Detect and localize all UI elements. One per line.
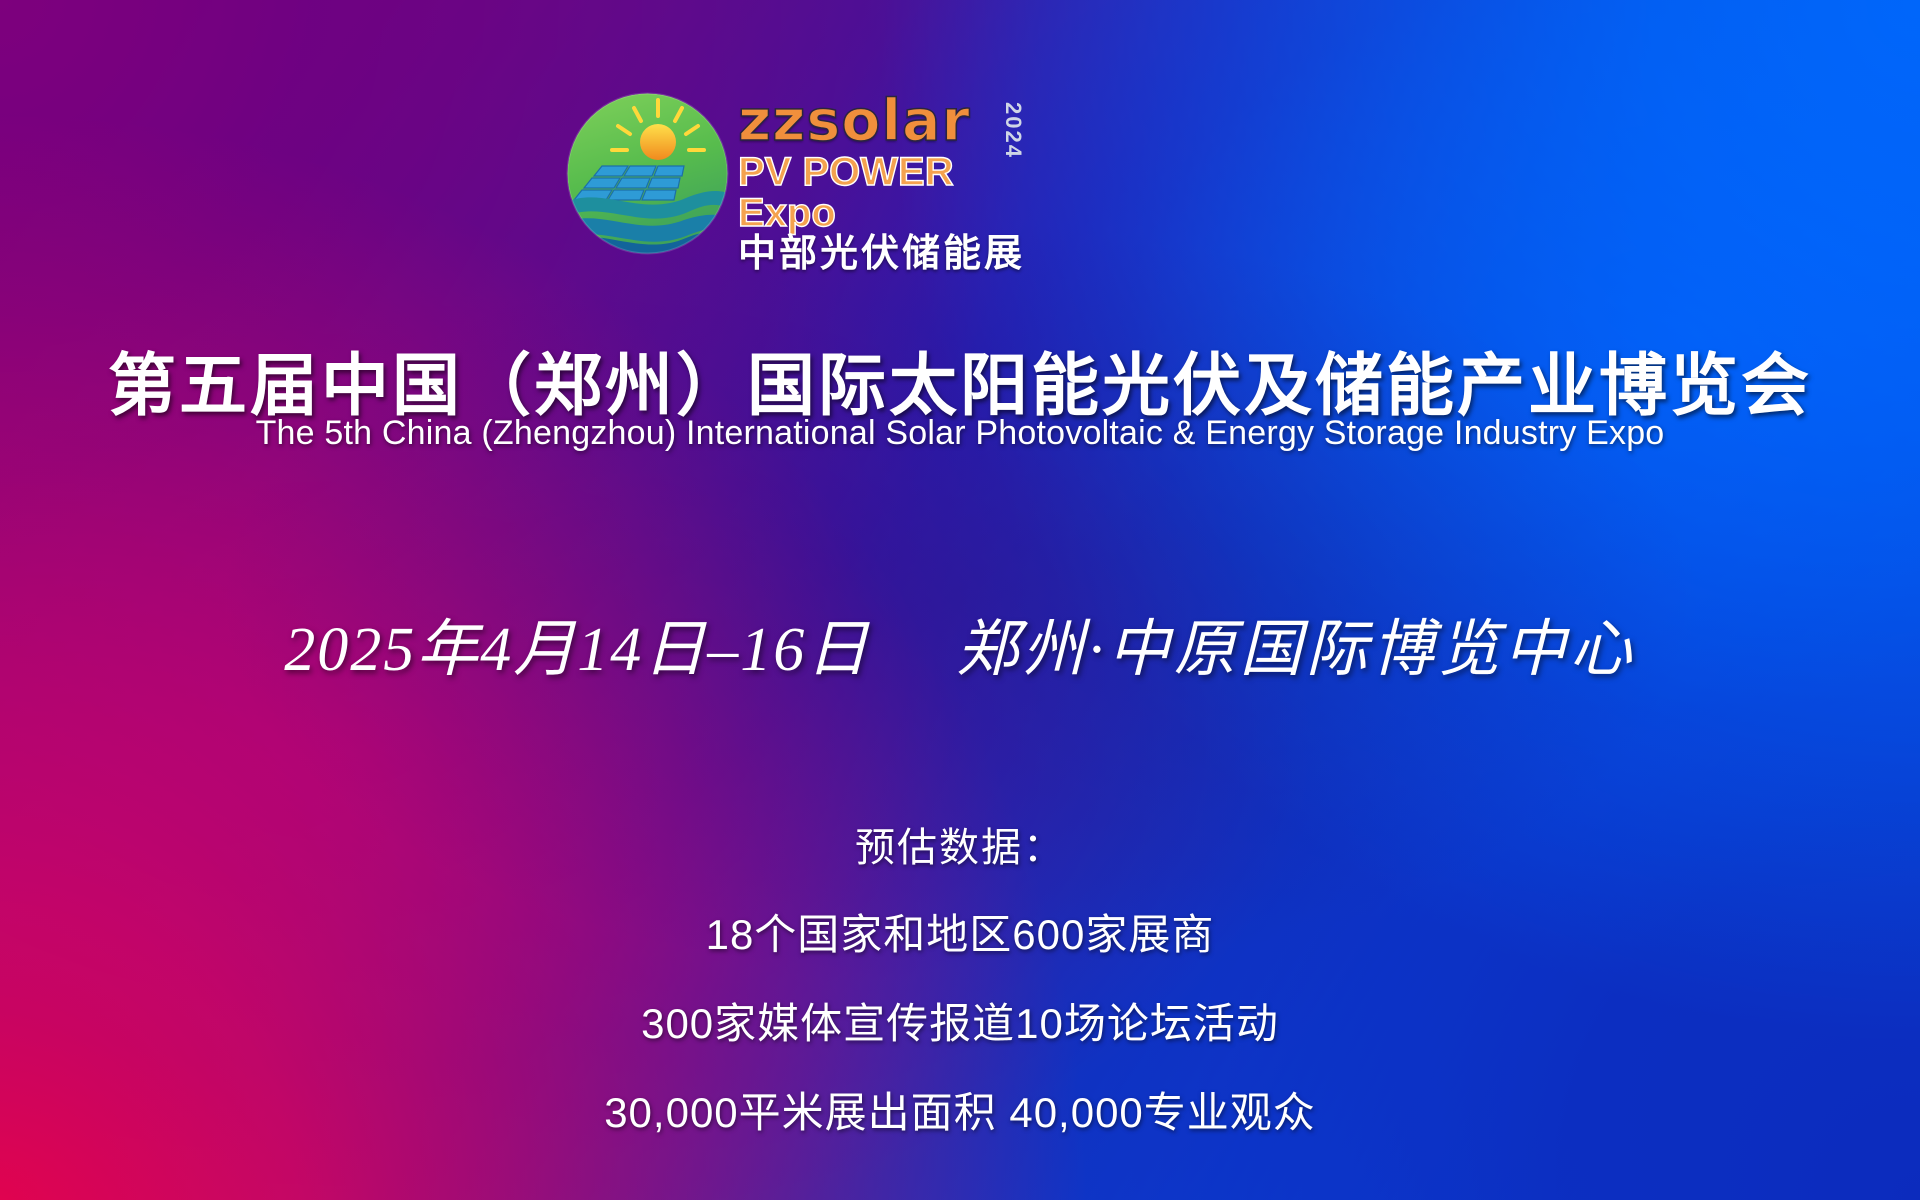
event-venue: 郑州·中原国际博览中心 (956, 598, 1636, 688)
event-date: 2025年4月14日–16日 (284, 598, 870, 688)
expo-poster: zzsolar 2024 PV POWER Expo 中部光伏储能展 第五届中国… (0, 0, 1920, 1200)
logo-wordmark: zzsolar 2024 PV POWER Expo 中部光伏储能展 (738, 94, 1028, 275)
logo-tagline-en: PV POWER Expo (738, 152, 1028, 234)
event-date-venue: 2025年4月14日–16日 郑州·中原国际博览中心 (0, 598, 1920, 688)
estimated-data-heading: 预估数据： (0, 815, 1920, 873)
stat-line-exhibitors: 18个国家和地区600家展商 (0, 901, 1920, 962)
stat-line-media-forums: 300家媒体宣传报道10场论坛活动 (0, 990, 1920, 1051)
stat-line-area-visitors: 30,000平米展出面积 40,000专业观众 (0, 1079, 1920, 1140)
zzsolar-globe-logo-icon (566, 92, 729, 255)
logo-tagline-cn: 中部光伏储能展 (738, 235, 1028, 275)
logo-year-badge: 2024 (1000, 102, 1026, 159)
logo-lockup: zzsolar 2024 PV POWER Expo 中部光伏储能展 (566, 92, 1026, 262)
page-title-english: The 5th China (Zhengzhou) International … (0, 414, 1920, 453)
logo-wordmark-text: zzsolar (738, 94, 1028, 150)
estimated-data-block: 预估数据： 18个国家和地区600家展商 300家媒体宣传报道10场论坛活动 3… (0, 815, 1920, 1140)
poster-content: zzsolar 2024 PV POWER Expo 中部光伏储能展 第五届中国… (0, 0, 1920, 1200)
